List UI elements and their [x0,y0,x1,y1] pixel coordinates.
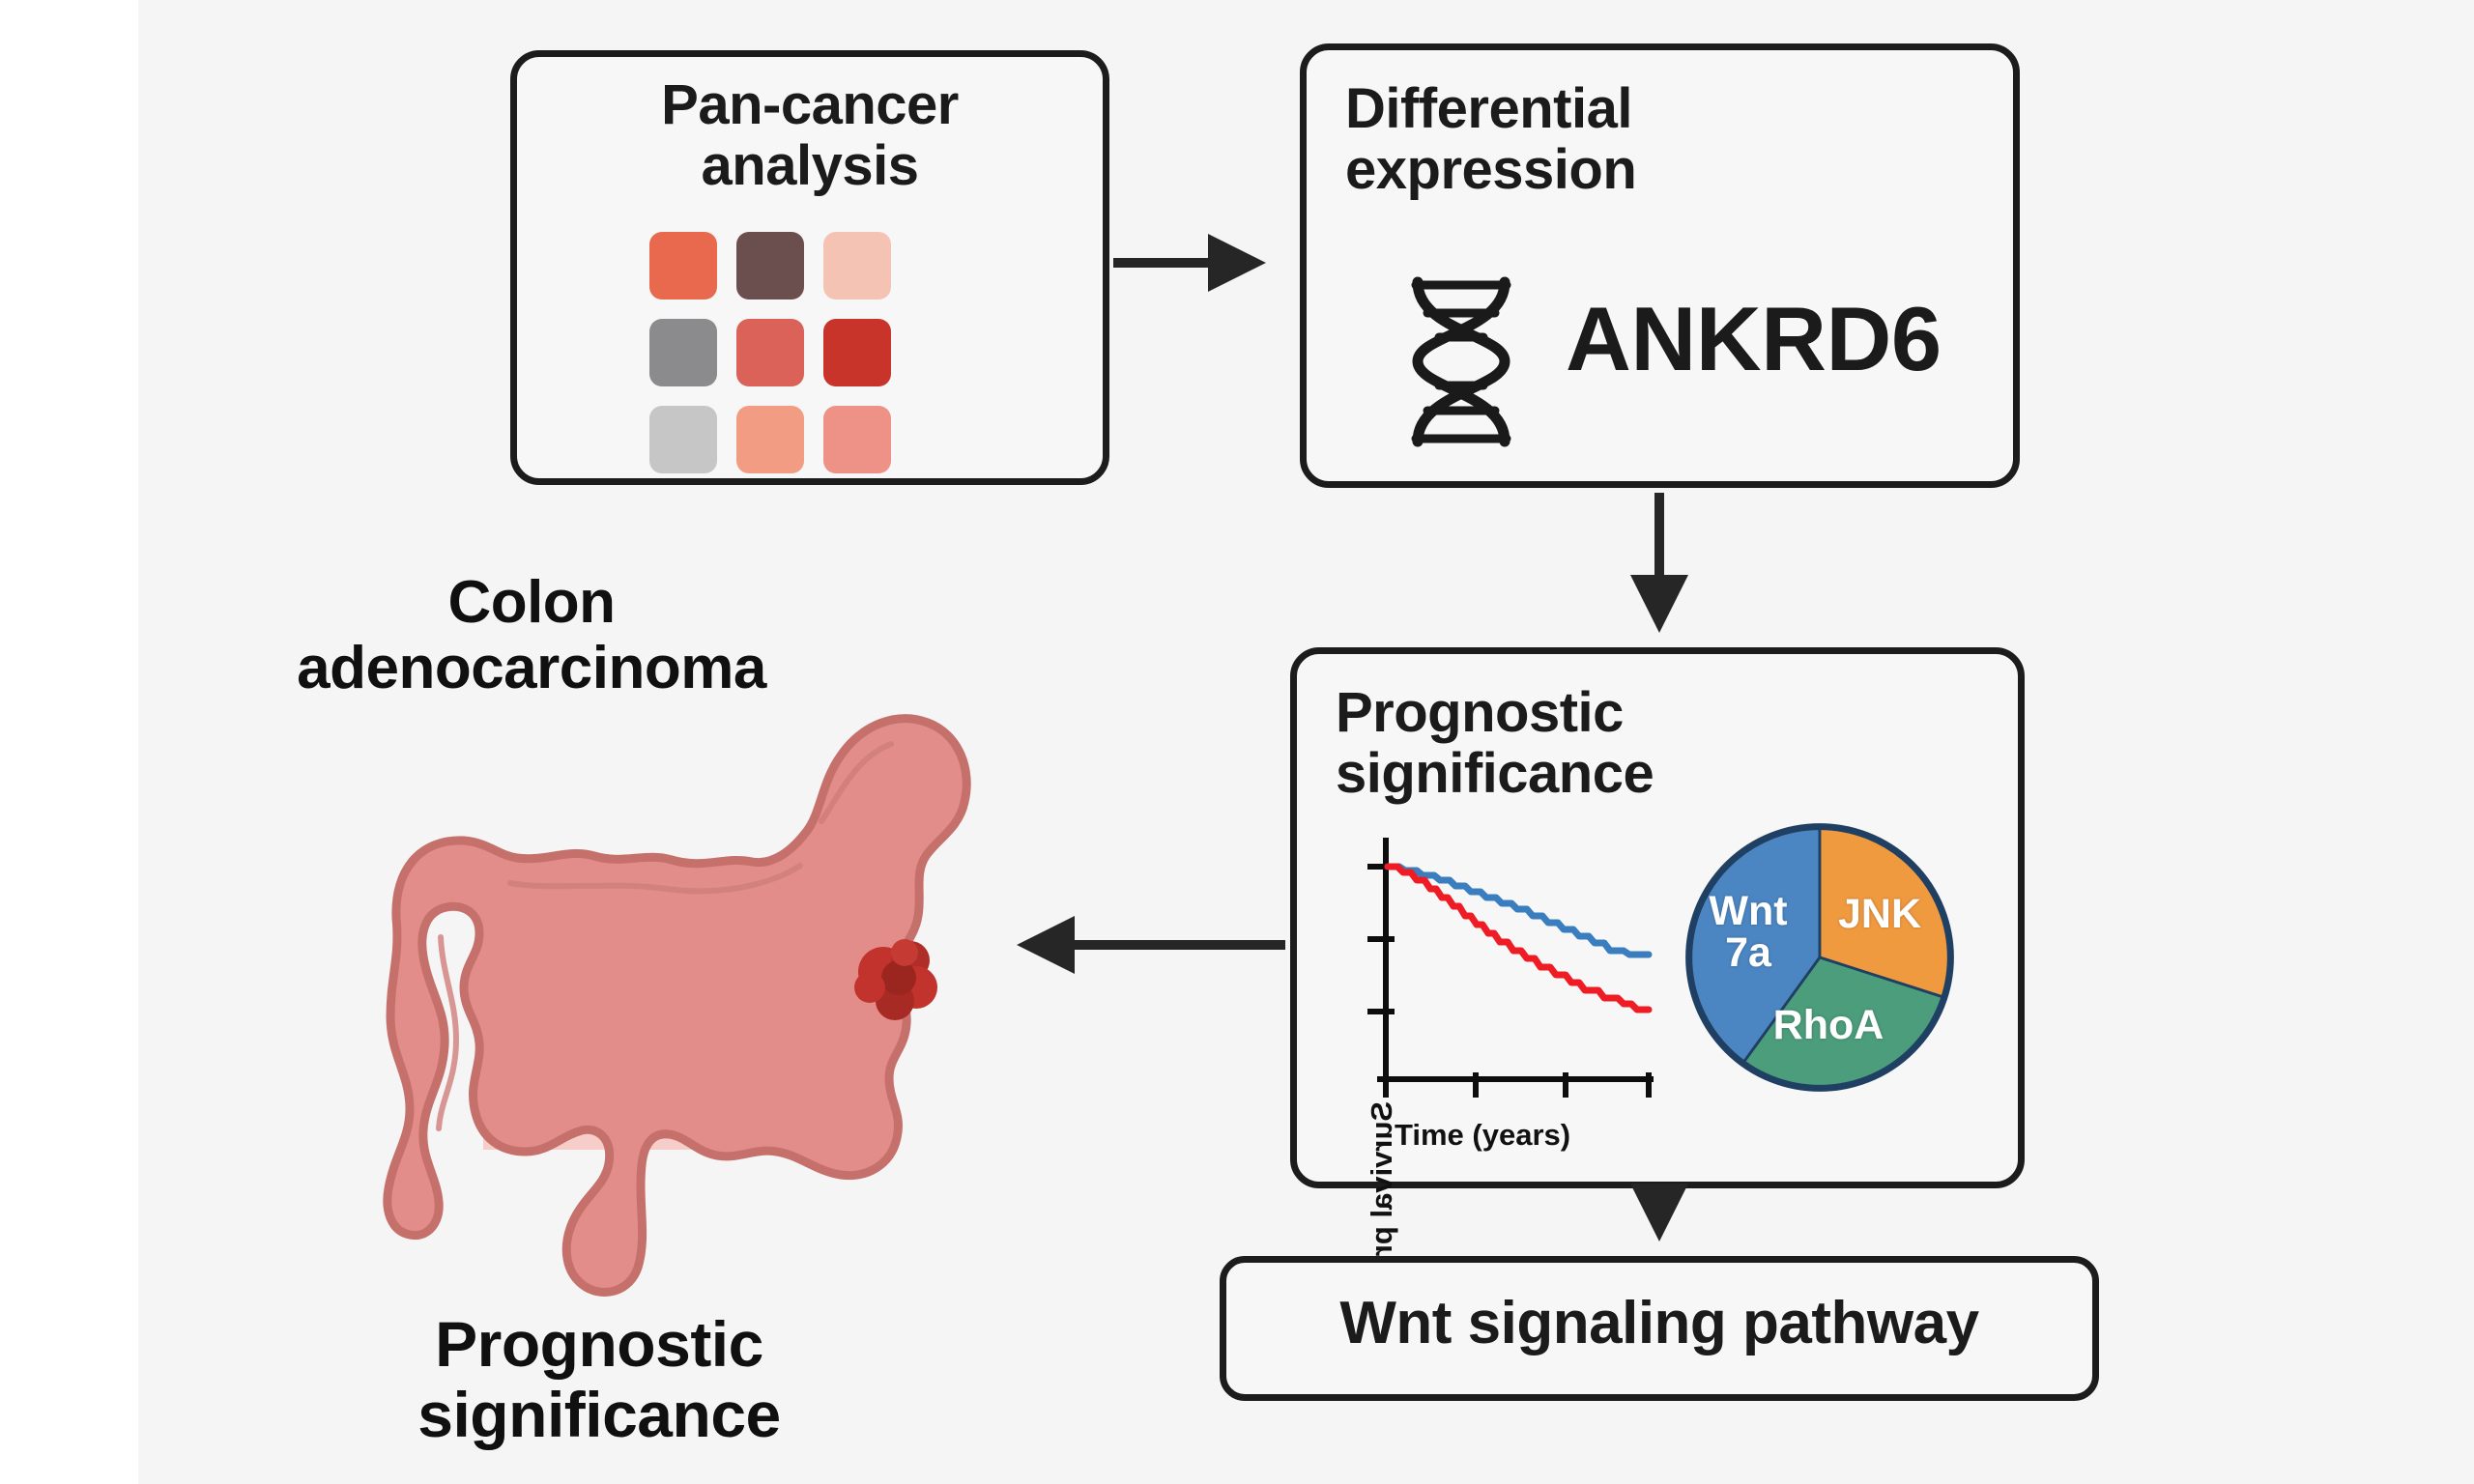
heatmap-grid-icon [649,232,901,478]
heatmap-cell [736,232,804,300]
wnt-pathway-components-pie: Wnt 7a JNK RhoA [1683,821,1956,1094]
pie-label-wnt7a: Wnt 7a [1695,891,1801,974]
heatmap-cell [649,232,717,300]
heatmap-cell [823,319,891,386]
prognostic-significance-title: Prognostic significance [1336,683,1973,804]
heatmap-cell [823,232,891,300]
wnt-signaling-pathway-label: Wnt signaling pathway [1239,1292,2080,1356]
graphical-abstract-figure: Pan-cancer analysis Differential express… [0,0,2474,1484]
survival-curve-series-low [1388,867,1649,1010]
kaplan-meier-survival-curve [1341,816,1660,1116]
pan-cancer-title: Pan-cancer analysis [530,75,1090,196]
heatmap-cell [649,406,717,473]
colon-prognostic-significance-caption: Prognostic significance [290,1309,908,1449]
heatmap-cell [649,319,717,386]
pie-label-rhoa: RhoA [1761,1005,1896,1046]
survival-chart-xlabel: Time (years) [1395,1118,1570,1153]
heatmap-cell [736,319,804,386]
dna-helix-icon [1389,272,1534,451]
gene-name-label: ANKRD6 [1566,290,2020,388]
pie-label-jnk: JNK [1827,894,1933,935]
heatmap-cell [736,406,804,473]
heatmap-cell [823,406,891,473]
differential-expression-title: Differential expression [1345,79,1964,200]
colon-anatomy-illustration [319,676,995,1295]
